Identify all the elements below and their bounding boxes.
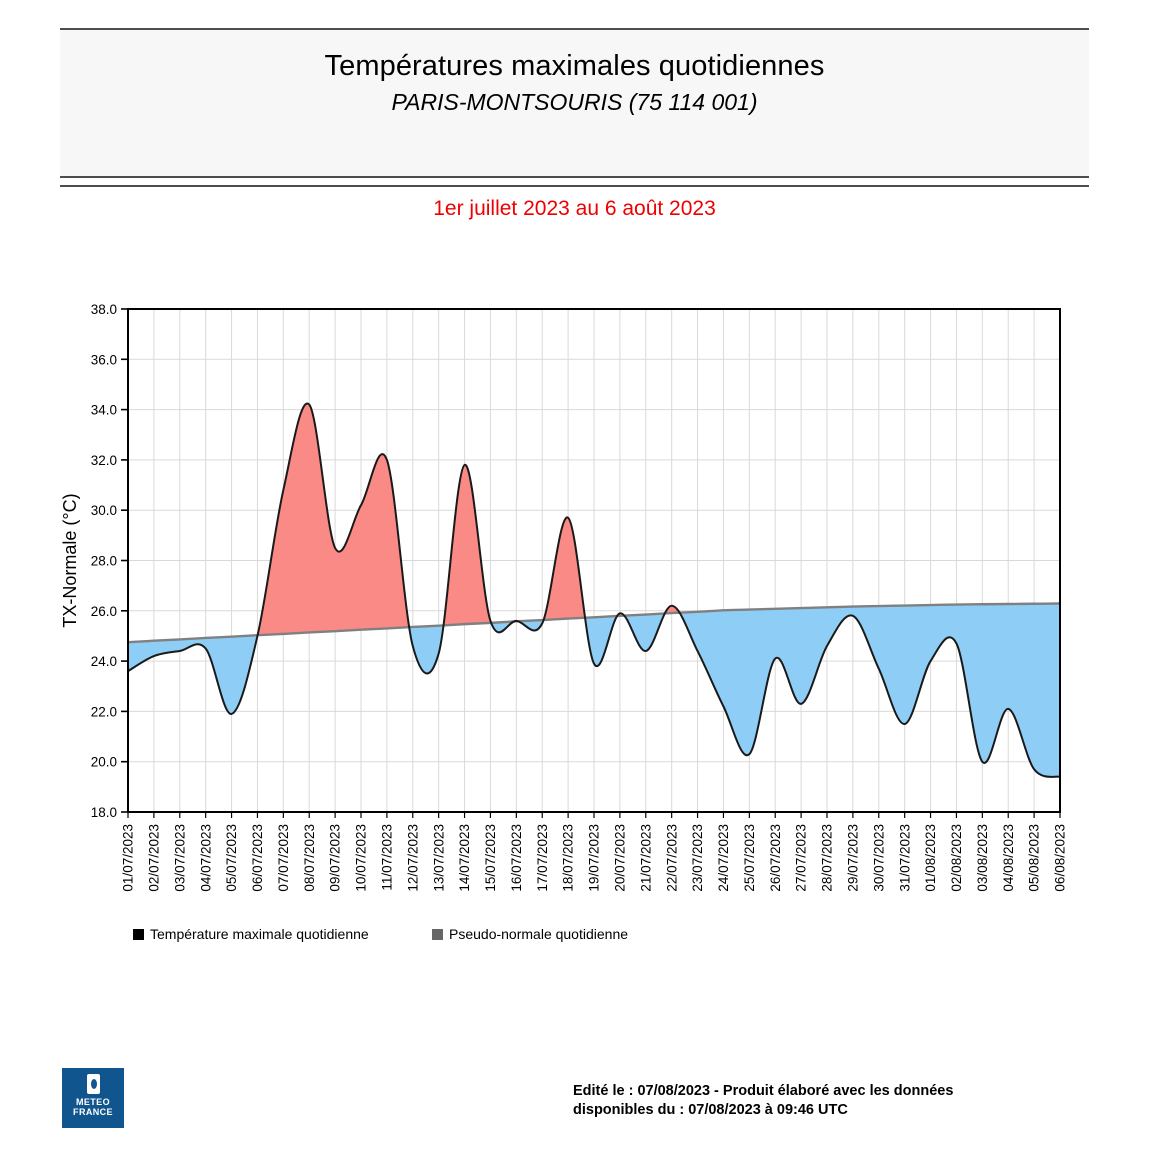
svg-text:01/07/2023: 01/07/2023: [121, 824, 136, 892]
svg-text:11/07/2023: 11/07/2023: [379, 824, 394, 891]
svg-text:22.0: 22.0: [91, 704, 117, 719]
svg-text:07/07/2023: 07/07/2023: [276, 824, 291, 892]
svg-text:21/07/2023: 21/07/2023: [638, 824, 653, 892]
legend-swatch: [133, 929, 144, 940]
temperature-chart: 18.020.022.024.026.028.030.032.034.036.0…: [0, 0, 1150, 1000]
svg-text:15/07/2023: 15/07/2023: [483, 824, 498, 892]
svg-text:03/08/2023: 03/08/2023: [975, 824, 990, 892]
svg-text:28/07/2023: 28/07/2023: [820, 824, 835, 892]
footer: METEO FRANCE Edité le : 07/08/2023 - Pro…: [0, 1060, 1150, 1150]
svg-text:32.0: 32.0: [91, 453, 117, 468]
svg-text:19/07/2023: 19/07/2023: [587, 824, 602, 892]
svg-text:36.0: 36.0: [91, 352, 117, 367]
legend-label: Pseudo-normale quotidienne: [449, 926, 628, 942]
credit-line-1: Edité le : 07/08/2023 - Produit élaboré …: [573, 1082, 1093, 1101]
svg-text:26/07/2023: 26/07/2023: [768, 824, 783, 892]
svg-text:09/07/2023: 09/07/2023: [328, 824, 343, 892]
logo-line-2: FRANCE: [62, 1107, 124, 1117]
chart-legend: Température maximale quotidiennePseudo-n…: [133, 926, 628, 942]
meteo-france-emblem-icon: [87, 1074, 100, 1094]
svg-text:05/07/2023: 05/07/2023: [224, 824, 239, 892]
svg-text:08/07/2023: 08/07/2023: [302, 824, 317, 892]
svg-text:01/08/2023: 01/08/2023: [923, 824, 938, 892]
legend-item-normale: Pseudo-normale quotidienne: [432, 926, 628, 942]
svg-text:38.0: 38.0: [91, 302, 117, 317]
svg-text:28.0: 28.0: [91, 554, 117, 569]
svg-text:12/07/2023: 12/07/2023: [405, 824, 420, 892]
logo-line-1: METEO: [62, 1097, 124, 1107]
y-axis-ticks: 18.020.022.024.026.028.030.032.034.036.0…: [91, 302, 128, 820]
svg-text:25/07/2023: 25/07/2023: [742, 824, 757, 892]
svg-text:17/07/2023: 17/07/2023: [535, 824, 550, 892]
svg-text:20/07/2023: 20/07/2023: [612, 824, 627, 892]
legend-item-tx: Température maximale quotidienne: [133, 926, 369, 942]
legend-swatch: [432, 929, 443, 940]
svg-text:04/07/2023: 04/07/2023: [198, 824, 213, 892]
svg-text:16/07/2023: 16/07/2023: [509, 824, 524, 892]
svg-text:02/08/2023: 02/08/2023: [949, 824, 964, 892]
credit-line-2: disponibles du : 07/08/2023 à 09:46 UTC: [573, 1101, 1093, 1120]
svg-text:02/07/2023: 02/07/2023: [146, 824, 161, 892]
grid-lines: [128, 309, 1060, 812]
svg-text:03/07/2023: 03/07/2023: [172, 824, 187, 892]
svg-text:18/07/2023: 18/07/2023: [561, 824, 576, 892]
svg-text:30.0: 30.0: [91, 503, 117, 518]
svg-text:TX-Normale (°C): TX-Normale (°C): [60, 493, 80, 627]
svg-text:04/08/2023: 04/08/2023: [1001, 824, 1016, 892]
svg-text:34.0: 34.0: [91, 403, 117, 418]
credit-text: Edité le : 07/08/2023 - Produit élaboré …: [573, 1082, 1093, 1120]
svg-text:26.0: 26.0: [91, 604, 117, 619]
svg-text:06/08/2023: 06/08/2023: [1053, 824, 1068, 892]
y-axis-title: TX-Normale (°C): [60, 493, 80, 627]
svg-text:24.0: 24.0: [91, 654, 117, 669]
svg-text:24/07/2023: 24/07/2023: [716, 824, 731, 892]
svg-text:20.0: 20.0: [91, 755, 117, 770]
svg-text:29/07/2023: 29/07/2023: [845, 824, 860, 892]
chart-plot-area: 18.020.022.024.026.028.030.032.034.036.0…: [0, 0, 1150, 1000]
x-axis-ticks: 01/07/202302/07/202303/07/202304/07/2023…: [121, 812, 1068, 892]
svg-text:05/08/2023: 05/08/2023: [1027, 824, 1042, 892]
svg-text:22/07/2023: 22/07/2023: [664, 824, 679, 892]
svg-text:23/07/2023: 23/07/2023: [690, 824, 705, 892]
svg-text:06/07/2023: 06/07/2023: [250, 824, 265, 892]
svg-text:31/07/2023: 31/07/2023: [897, 824, 912, 892]
svg-text:27/07/2023: 27/07/2023: [794, 824, 809, 892]
svg-text:10/07/2023: 10/07/2023: [354, 824, 369, 892]
legend-label: Température maximale quotidienne: [150, 926, 369, 942]
svg-text:30/07/2023: 30/07/2023: [871, 824, 886, 892]
svg-text:14/07/2023: 14/07/2023: [457, 824, 472, 892]
meteo-france-logo: METEO FRANCE: [62, 1068, 124, 1128]
svg-text:13/07/2023: 13/07/2023: [431, 824, 446, 892]
svg-text:18.0: 18.0: [91, 805, 117, 820]
